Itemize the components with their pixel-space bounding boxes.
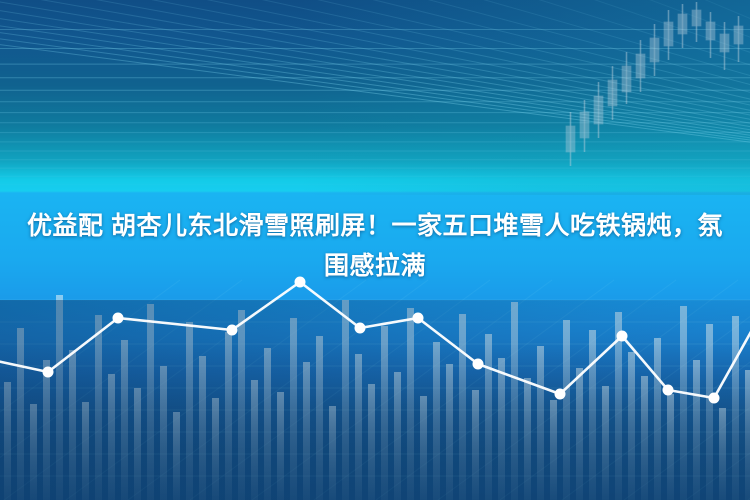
headline-line-2: 围感拉满 — [8, 246, 742, 286]
headline-line-1: 优益配 胡杏儿东北滑雪照刷屏！一家五口堆雪人吃铁锅炖，氛 — [27, 212, 723, 240]
page-title: 优益配 胡杏儿东北滑雪照刷屏！一家五口堆雪人吃铁锅炖，氛 围感拉满 — [0, 206, 750, 286]
promo-banner: 优益配 胡杏儿东北滑雪照刷屏！一家五口堆雪人吃铁锅炖，氛 围感拉满 — [0, 0, 750, 500]
